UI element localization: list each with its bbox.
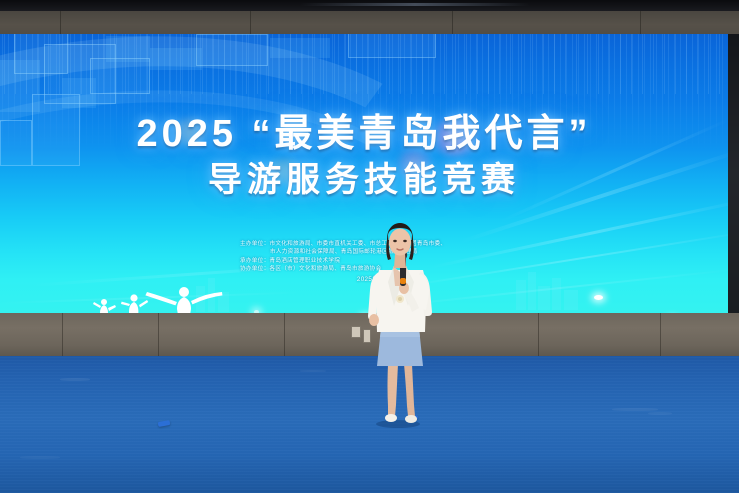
skyline-building	[564, 290, 578, 310]
stage-photo-scene: 2025 “最美青岛我代言” 导游服务技能竞赛 主办单位：市文化和旅游局、市委市…	[0, 0, 739, 493]
skyline-building	[528, 272, 536, 310]
deco-rectangle	[348, 34, 436, 58]
host-label: 主办单位：	[240, 241, 269, 247]
skyline-building	[516, 280, 526, 310]
coorganizer-label: 协办单位：	[240, 266, 269, 272]
event-title-line-2: 导游服务技能竞赛	[0, 152, 728, 201]
ceiling-band	[0, 0, 739, 11]
skyline-building	[538, 286, 550, 310]
presenter-figure	[355, 216, 445, 428]
dancer-silhouettes-graphic	[88, 278, 238, 313]
skyline-building	[552, 278, 561, 310]
floor-marker	[158, 420, 171, 427]
upper-wall-band	[0, 11, 739, 36]
screen-right-edge-shadow	[728, 34, 739, 313]
glow-dot	[594, 295, 603, 300]
event-title-line-1: 2025 “最美青岛我代言”	[0, 102, 728, 157]
organizer-line: 青岛酒店管理职业技术学院	[269, 258, 340, 264]
organizer-label: 承办单位：	[240, 258, 269, 264]
